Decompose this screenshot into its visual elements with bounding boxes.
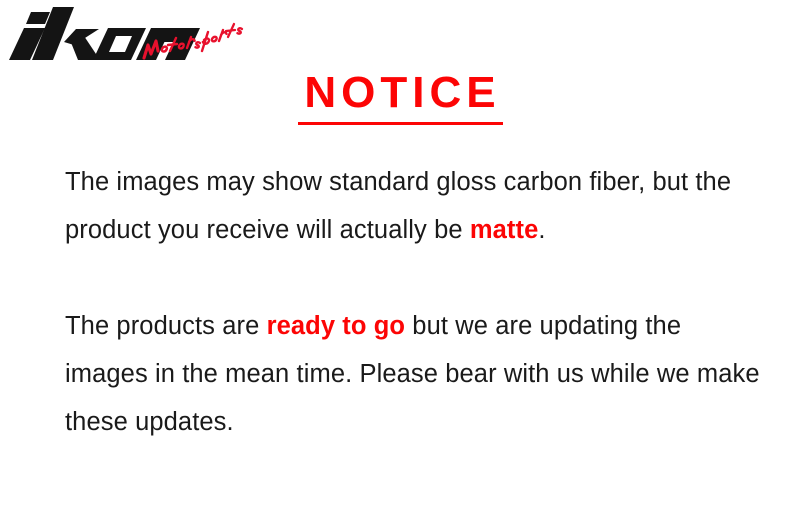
paragraph-2-highlight-ready-to-go: ready to go: [267, 312, 406, 340]
notice-page: NOTICE The images may show standard glos…: [0, 0, 800, 510]
ikon-motorsports-logo: [4, 4, 254, 66]
paragraph-gloss-vs-matte: The images may show standard gloss carbo…: [65, 158, 765, 254]
paragraph-1-text-before: The images may show standard gloss carbo…: [65, 168, 738, 244]
logo-artwork: [4, 4, 254, 66]
title-underline: [298, 122, 503, 125]
notice-heading-block: NOTICE: [0, 68, 800, 125]
paragraph-1-text-after: .: [538, 216, 545, 244]
page-title: NOTICE: [299, 68, 500, 118]
logo-wordmark-ikon: [9, 7, 200, 60]
notice-body: The images may show standard gloss carbo…: [65, 158, 765, 446]
paragraph-ready-to-go: The products are ready to go but we are …: [65, 302, 765, 446]
paragraph-2-text-before: The products are: [65, 312, 267, 340]
paragraph-1-highlight-matte: matte: [470, 216, 539, 244]
